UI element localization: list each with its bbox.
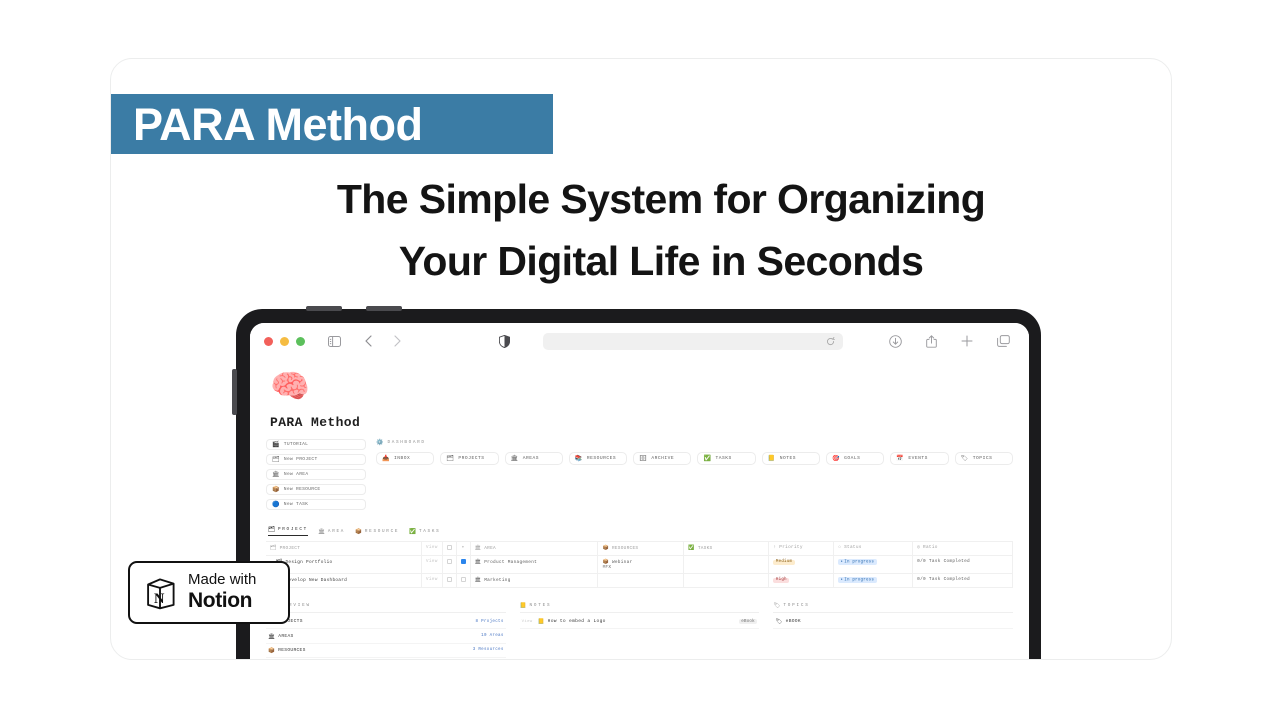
db-tab-label: TASKS (419, 529, 440, 534)
column-header-view[interactable]: View (421, 542, 442, 556)
overview-count: 8 Projects (476, 620, 504, 624)
title-banner: PARA Method (111, 94, 553, 154)
close-window-button[interactable] (264, 337, 273, 346)
badge-made-with-label: Made with (188, 572, 256, 589)
db-tab-label: AREA (328, 529, 345, 534)
column-header-check2[interactable]: ✦ (456, 542, 470, 556)
nav-tab-resources[interactable]: 📚 RESOURCES (569, 452, 627, 465)
quick-button-new-area[interactable]: 🏛 New AREA (266, 469, 366, 480)
overview-label: RESOURCES (278, 648, 306, 653)
nav-tab-label: EVENTS (908, 456, 928, 461)
cell-ratio: 0/0 Task Completed (913, 574, 1013, 588)
tag-icon: 🏷 (961, 455, 969, 462)
topic-title: eBOOK (786, 619, 801, 624)
project-name: Design Portfolio (285, 560, 332, 565)
nav-tab-label: TASKS (715, 456, 731, 461)
overview-section: 📊 OVERVIEW 🗂 PROJECTS 8 Projects 🏛 AREAS… (266, 602, 506, 660)
subtitle-line-1: The Simple System for Organizing (171, 169, 1151, 231)
notes-row[interactable]: View 📒 How to embed a Logo eBook (520, 615, 760, 629)
nav-tab-goals[interactable]: 🎯 GOALS (826, 452, 884, 465)
minimize-window-button[interactable] (280, 337, 289, 346)
books-icon: 📚 (575, 455, 583, 462)
tablet-screen: 🧠 PARA Method 🎬 TUTORIAL 🗂 New PROJECT (250, 323, 1029, 660)
ratio-icon: ◎ (917, 545, 920, 550)
svg-text:N: N (154, 590, 165, 606)
inbox-icon: 📥 (382, 455, 390, 462)
navigation-arrows (360, 333, 405, 349)
table-header-row: 🗂 PROJECT View ✦ 🏛 (266, 542, 1013, 556)
nav-tab-notes[interactable]: 📒 NOTES (762, 452, 820, 465)
notebook-icon: 📒 (520, 602, 527, 609)
status-badge: In progress (838, 577, 876, 583)
notion-page-title: PARA Method (270, 415, 1013, 430)
projects-table: 🗂 PROJECT View ✦ 🏛 (266, 541, 1013, 588)
column-header-tasks[interactable]: ✅ TASKS (684, 542, 769, 556)
package-icon: 📦 (272, 487, 280, 493)
db-tab-resource[interactable]: 📦 RESOURCE (355, 526, 399, 536)
notes-heading: 📒 NOTES (520, 602, 760, 613)
tablet-volume-button-up (306, 306, 342, 311)
topics-heading-label: TOPICS (783, 603, 809, 608)
database-view-tabs: 🗂 PROJECT 🏛 AREA 📦 RESOURCE ✅ TASKS (268, 526, 1013, 539)
nav-tab-archive[interactable]: 🗄 ARCHIVE (633, 452, 691, 465)
share-icon[interactable] (923, 333, 939, 349)
status-badge: In progress (838, 559, 876, 565)
dashboard-label: ⚙️ DASHBOARD (376, 439, 1013, 446)
overview-heading: 📊 OVERVIEW (266, 602, 506, 613)
maximize-window-button[interactable] (296, 337, 305, 346)
area-name: Marketing (484, 578, 510, 583)
page-title: PARA Method (133, 102, 422, 147)
column-label: RESOURCES (612, 546, 638, 551)
address-bar[interactable] (543, 333, 843, 350)
nav-tab-label: ARCHIVE (651, 456, 674, 461)
tag-icon: 🏷 (773, 602, 780, 609)
cell-resources[interactable]: 📦 Webinar #FX (598, 556, 684, 574)
cell-view[interactable]: View (421, 574, 442, 588)
quick-button-new-task[interactable]: 🔵 New TASK (266, 499, 366, 510)
cell-status[interactable]: In progress (834, 574, 913, 588)
db-tab-area[interactable]: 🏛 AREA (318, 526, 345, 536)
subtitle-line-2: Your Digital Life in Seconds (171, 231, 1151, 293)
folder-icon: 🗂 (272, 457, 280, 463)
quick-button-label: TUTORIAL (284, 442, 308, 447)
column-label: Priority (779, 545, 802, 550)
topics-heading: 🏷 TOPICS (773, 602, 1013, 613)
nav-tab-label: INBOX (394, 456, 410, 461)
bank-icon: 🏛 (475, 577, 482, 583)
column-header-ratio[interactable]: ◎ Ratio (913, 542, 1013, 556)
db-tab-tasks[interactable]: ✅ TASKS (409, 526, 440, 536)
check-icon: ✅ (688, 545, 695, 551)
db-tab-label: PROJECT (278, 527, 308, 532)
cell-view[interactable]: View (421, 556, 442, 574)
cell-checkbox-1[interactable] (442, 574, 456, 588)
cell-checkbox-2[interactable] (456, 556, 470, 574)
quick-button-tutorial[interactable]: 🎬 TUTORIAL (266, 439, 366, 450)
target-icon: 🎯 (832, 455, 840, 462)
tablet-power-button (232, 369, 237, 415)
column-header-check1[interactable] (442, 542, 456, 556)
notebook-icon: 📒 (768, 455, 776, 462)
bank-icon: 🏛 (318, 528, 325, 535)
nav-tab-row: 📥 INBOX 🗂 PROJECTS 🏛 AREAS (376, 452, 1013, 465)
notes-heading-label: NOTES (530, 603, 552, 608)
topics-section: 🏷 TOPICS 🏷 eBOOK (773, 602, 1013, 660)
quick-button-new-project[interactable]: 🗂 New PROJECT (266, 454, 366, 465)
notes-section: 📒 NOTES View 📒 How to embed a Logo eBook (520, 602, 760, 660)
nav-tab-label: RESOURCES (587, 456, 616, 461)
db-tab-label: RESOURCE (365, 529, 399, 534)
gear-icon: ⚙️ (376, 439, 383, 446)
reload-icon[interactable] (826, 337, 835, 346)
bank-icon: 🏛 (475, 559, 482, 565)
bottom-sections: 📊 OVERVIEW 🗂 PROJECTS 8 Projects 🏛 AREAS… (266, 602, 1013, 660)
priority-badge: High (773, 578, 789, 583)
dashboard-label-text: DASHBOARD (387, 440, 425, 445)
quick-button-new-resource[interactable]: 📦 New RESOURCE (266, 484, 366, 495)
nav-tab-label: TOPICS (973, 456, 993, 461)
star-icon: ✦ (462, 545, 465, 550)
overview-count: 10 Areas (481, 634, 504, 638)
checkbox-icon[interactable] (461, 577, 466, 582)
nav-tab-events[interactable]: 📅 EVENTS (890, 452, 948, 465)
quick-button-label: New PROJECT (284, 457, 318, 462)
package-icon: 📦 (602, 545, 609, 551)
overview-count: 3 Resources (473, 648, 504, 652)
column-label: AREA (484, 546, 496, 551)
column-header-status[interactable]: ○ Status (834, 542, 913, 556)
subtitle: The Simple System for Organizing Your Di… (171, 169, 1151, 292)
notion-page: 🧠 PARA Method 🎬 TUTORIAL 🗂 New PROJECT (250, 359, 1029, 660)
package-icon: 📦 (268, 647, 275, 654)
notion-cube-icon: N (143, 576, 177, 610)
overview-label: AREAS (278, 634, 293, 639)
download-icon[interactable] (887, 333, 903, 349)
cell-checkbox-1[interactable] (442, 556, 456, 574)
bank-icon: 🏛 (511, 455, 519, 462)
table-row[interactable]: ▸ 🗂 Design Portfolio View 🏛 Product Mana… (266, 556, 1013, 574)
tag-icon: 🏷 (775, 618, 782, 625)
check-icon: ✅ (409, 528, 416, 535)
notes-view-label[interactable]: View (522, 620, 533, 624)
notebook-icon: 📒 (537, 618, 544, 625)
overview-row-resources[interactable]: 📦 RESOURCES 3 Resources (266, 644, 506, 658)
column-label: PROJECT (280, 546, 301, 551)
quick-action-buttons: 🎬 TUTORIAL 🗂 New PROJECT 🏛 New AREA (266, 439, 366, 514)
nav-tab-label: AREAS (523, 456, 539, 461)
folder-icon: 🗂 (270, 545, 277, 551)
column-header-resources[interactable]: 📦 RESOURCES (598, 542, 684, 556)
circle-icon: 🔵 (272, 502, 280, 508)
cell-priority[interactable]: High (769, 574, 834, 588)
checkbox-icon (447, 545, 452, 550)
checkbox-icon[interactable] (447, 559, 452, 564)
table-row[interactable]: ▸ 🗂 Develop New Dashboard View 🏛 Marketi… (266, 574, 1013, 588)
back-icon[interactable] (360, 333, 376, 349)
bank-icon: 🏛 (272, 472, 280, 478)
nav-tab-projects[interactable]: 🗂 PROJECTS (440, 452, 498, 465)
db-tab-project[interactable]: 🗂 PROJECT (268, 526, 308, 536)
plus-icon[interactable] (959, 333, 975, 349)
package-icon: 📦 (355, 528, 362, 535)
nav-tab-label: NOTES (780, 456, 796, 461)
cell-area[interactable]: 🏛 Product Management (470, 556, 598, 574)
column-header-project[interactable]: 🗂 PROJECT (266, 542, 421, 556)
column-label: Ratio (923, 545, 938, 550)
circle-outline-icon: ○ (838, 545, 841, 550)
bank-icon: 🏛 (268, 633, 275, 640)
sidebar-toggle-icon[interactable] (326, 333, 342, 349)
badge-brand-label: Notion (188, 589, 256, 613)
project-name: Develop New Dashboard (285, 578, 347, 583)
window-traffic-lights (264, 337, 305, 346)
nav-tab-areas[interactable]: 🏛 AREAS (505, 452, 563, 465)
priority-badge: Medium (773, 560, 794, 565)
clapper-icon: 🎬 (272, 442, 280, 448)
overview-row-projects[interactable]: 🗂 PROJECTS 8 Projects (266, 615, 506, 629)
overview-row-areas[interactable]: 🏛 AREAS 10 Areas (266, 629, 506, 643)
check-icon: ✅ (703, 455, 711, 462)
nav-tab-inbox[interactable]: 📥 INBOX (376, 452, 434, 465)
bank-icon: 🏛 (475, 545, 482, 551)
folder-icon: 🗂 (446, 455, 454, 462)
column-header-area[interactable]: 🏛 AREA (470, 542, 598, 556)
nav-tab-topics[interactable]: 🏷 TOPICS (955, 452, 1013, 465)
forward-icon[interactable] (389, 333, 405, 349)
nav-tab-label: PROJECTS (458, 456, 484, 461)
cell-ratio: 0/0 Task Completed (913, 556, 1013, 574)
made-with-notion-badge: N Made with Notion (128, 561, 290, 624)
archive-icon: 🗄 (639, 455, 647, 462)
area-name: Product Management (484, 560, 537, 565)
cell-status[interactable]: In progress (834, 556, 913, 574)
overview-row-tasks[interactable]: ✅ TASKS 3 Tasks (266, 658, 506, 660)
calendar-icon: 📅 (896, 455, 904, 462)
shield-icon[interactable] (496, 333, 512, 349)
note-tag-badge: eBook (739, 619, 758, 624)
browser-toolbar (250, 323, 1029, 359)
checkbox-checked-icon[interactable] (461, 559, 466, 564)
quick-button-label: New RESOURCE (284, 487, 321, 492)
cell-resources[interactable] (598, 574, 684, 588)
browser-right-icons (887, 333, 1015, 349)
column-label: Status (844, 545, 862, 550)
tablet-volume-button-down (366, 306, 402, 311)
column-label: TASKS (698, 546, 713, 551)
cell-priority[interactable]: Medium (769, 556, 834, 574)
folder-icon: 🗂 (268, 526, 275, 533)
resource-extra: #FX (602, 565, 679, 570)
cell-tasks[interactable] (684, 556, 769, 574)
column-header-priority[interactable]: ↑ Priority (769, 542, 834, 556)
nav-tab-tasks[interactable]: ✅ TASKS (697, 452, 755, 465)
resource-name: Webinar (612, 560, 633, 565)
cell-checkbox-2[interactable] (456, 574, 470, 588)
notion-badge-text: Made with Notion (188, 572, 256, 612)
arrow-up-icon: ↑ (773, 545, 776, 550)
topics-row[interactable]: 🏷 eBOOK (773, 615, 1013, 629)
tabs-overview-icon[interactable] (995, 333, 1011, 349)
note-title: How to embed a Logo (548, 619, 606, 624)
nav-tab-label: GOALS (844, 456, 860, 461)
quick-button-label: New AREA (284, 472, 308, 477)
cell-area[interactable]: 🏛 Marketing (470, 574, 598, 588)
tablet-mockup: 🧠 PARA Method 🎬 TUTORIAL 🗂 New PROJECT (236, 309, 1041, 660)
checkbox-icon[interactable] (447, 577, 452, 582)
cell-tasks[interactable] (684, 574, 769, 588)
quick-button-label: New TASK (284, 502, 308, 507)
page-emoji-icon: 🧠 (270, 373, 1013, 405)
